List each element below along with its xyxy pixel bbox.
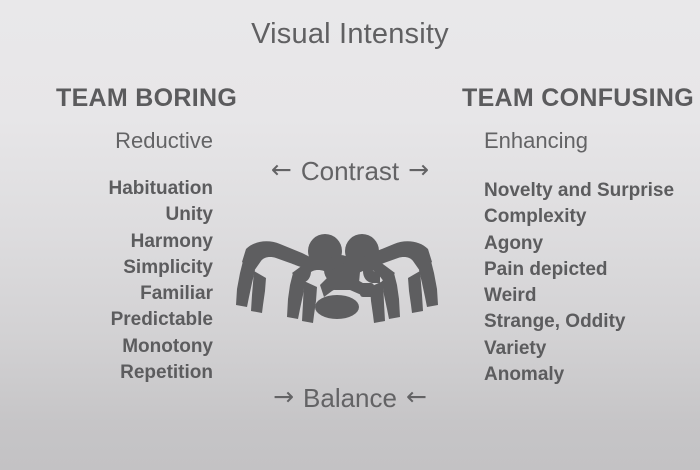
- team-confusing-heading: TEAM CONFUSING: [462, 84, 694, 113]
- team-boring-heading: TEAM BORING: [56, 84, 237, 113]
- balance-axis-label: Balance: [294, 383, 406, 414]
- list-item: Variety: [484, 336, 700, 362]
- list-item: Complexity: [484, 204, 700, 230]
- list-item: Strange, Oddity: [484, 309, 700, 335]
- diagram-canvas: Visual Intensity TEAM BORING TEAM CONFUS…: [0, 0, 700, 470]
- contrast-axis: ←Contrast→: [0, 155, 700, 187]
- team-boring-term-list: Habituation Unity Harmony Simplicity Fam…: [0, 176, 213, 386]
- list-item: Harmony: [0, 229, 213, 255]
- arrow-right-icon: →: [273, 382, 294, 411]
- list-item: Predictable: [0, 307, 213, 333]
- arrow-left-icon: ←: [271, 155, 292, 184]
- team-confusing-lead-term: Enhancing: [484, 126, 700, 156]
- contrast-axis-label: Contrast: [292, 156, 408, 187]
- page-title: Visual Intensity: [0, 18, 700, 51]
- list-item: Pain depicted: [484, 257, 700, 283]
- list-item: Simplicity: [0, 255, 213, 281]
- list-item: Agony: [484, 231, 700, 257]
- list-item: Familiar: [0, 281, 213, 307]
- arrow-left-icon: ←: [406, 382, 427, 411]
- football-scrimmage-icon: [232, 225, 442, 345]
- team-boring-lead-term: Reductive: [0, 126, 213, 156]
- list-item: Unity: [0, 202, 213, 228]
- balance-axis: →Balance←: [0, 382, 700, 414]
- team-confusing-term-list: Novelty and Surprise Complexity Agony Pa…: [484, 178, 700, 388]
- list-item: Monotony: [0, 334, 213, 360]
- list-item: Weird: [484, 283, 700, 309]
- arrow-right-icon: →: [408, 155, 429, 184]
